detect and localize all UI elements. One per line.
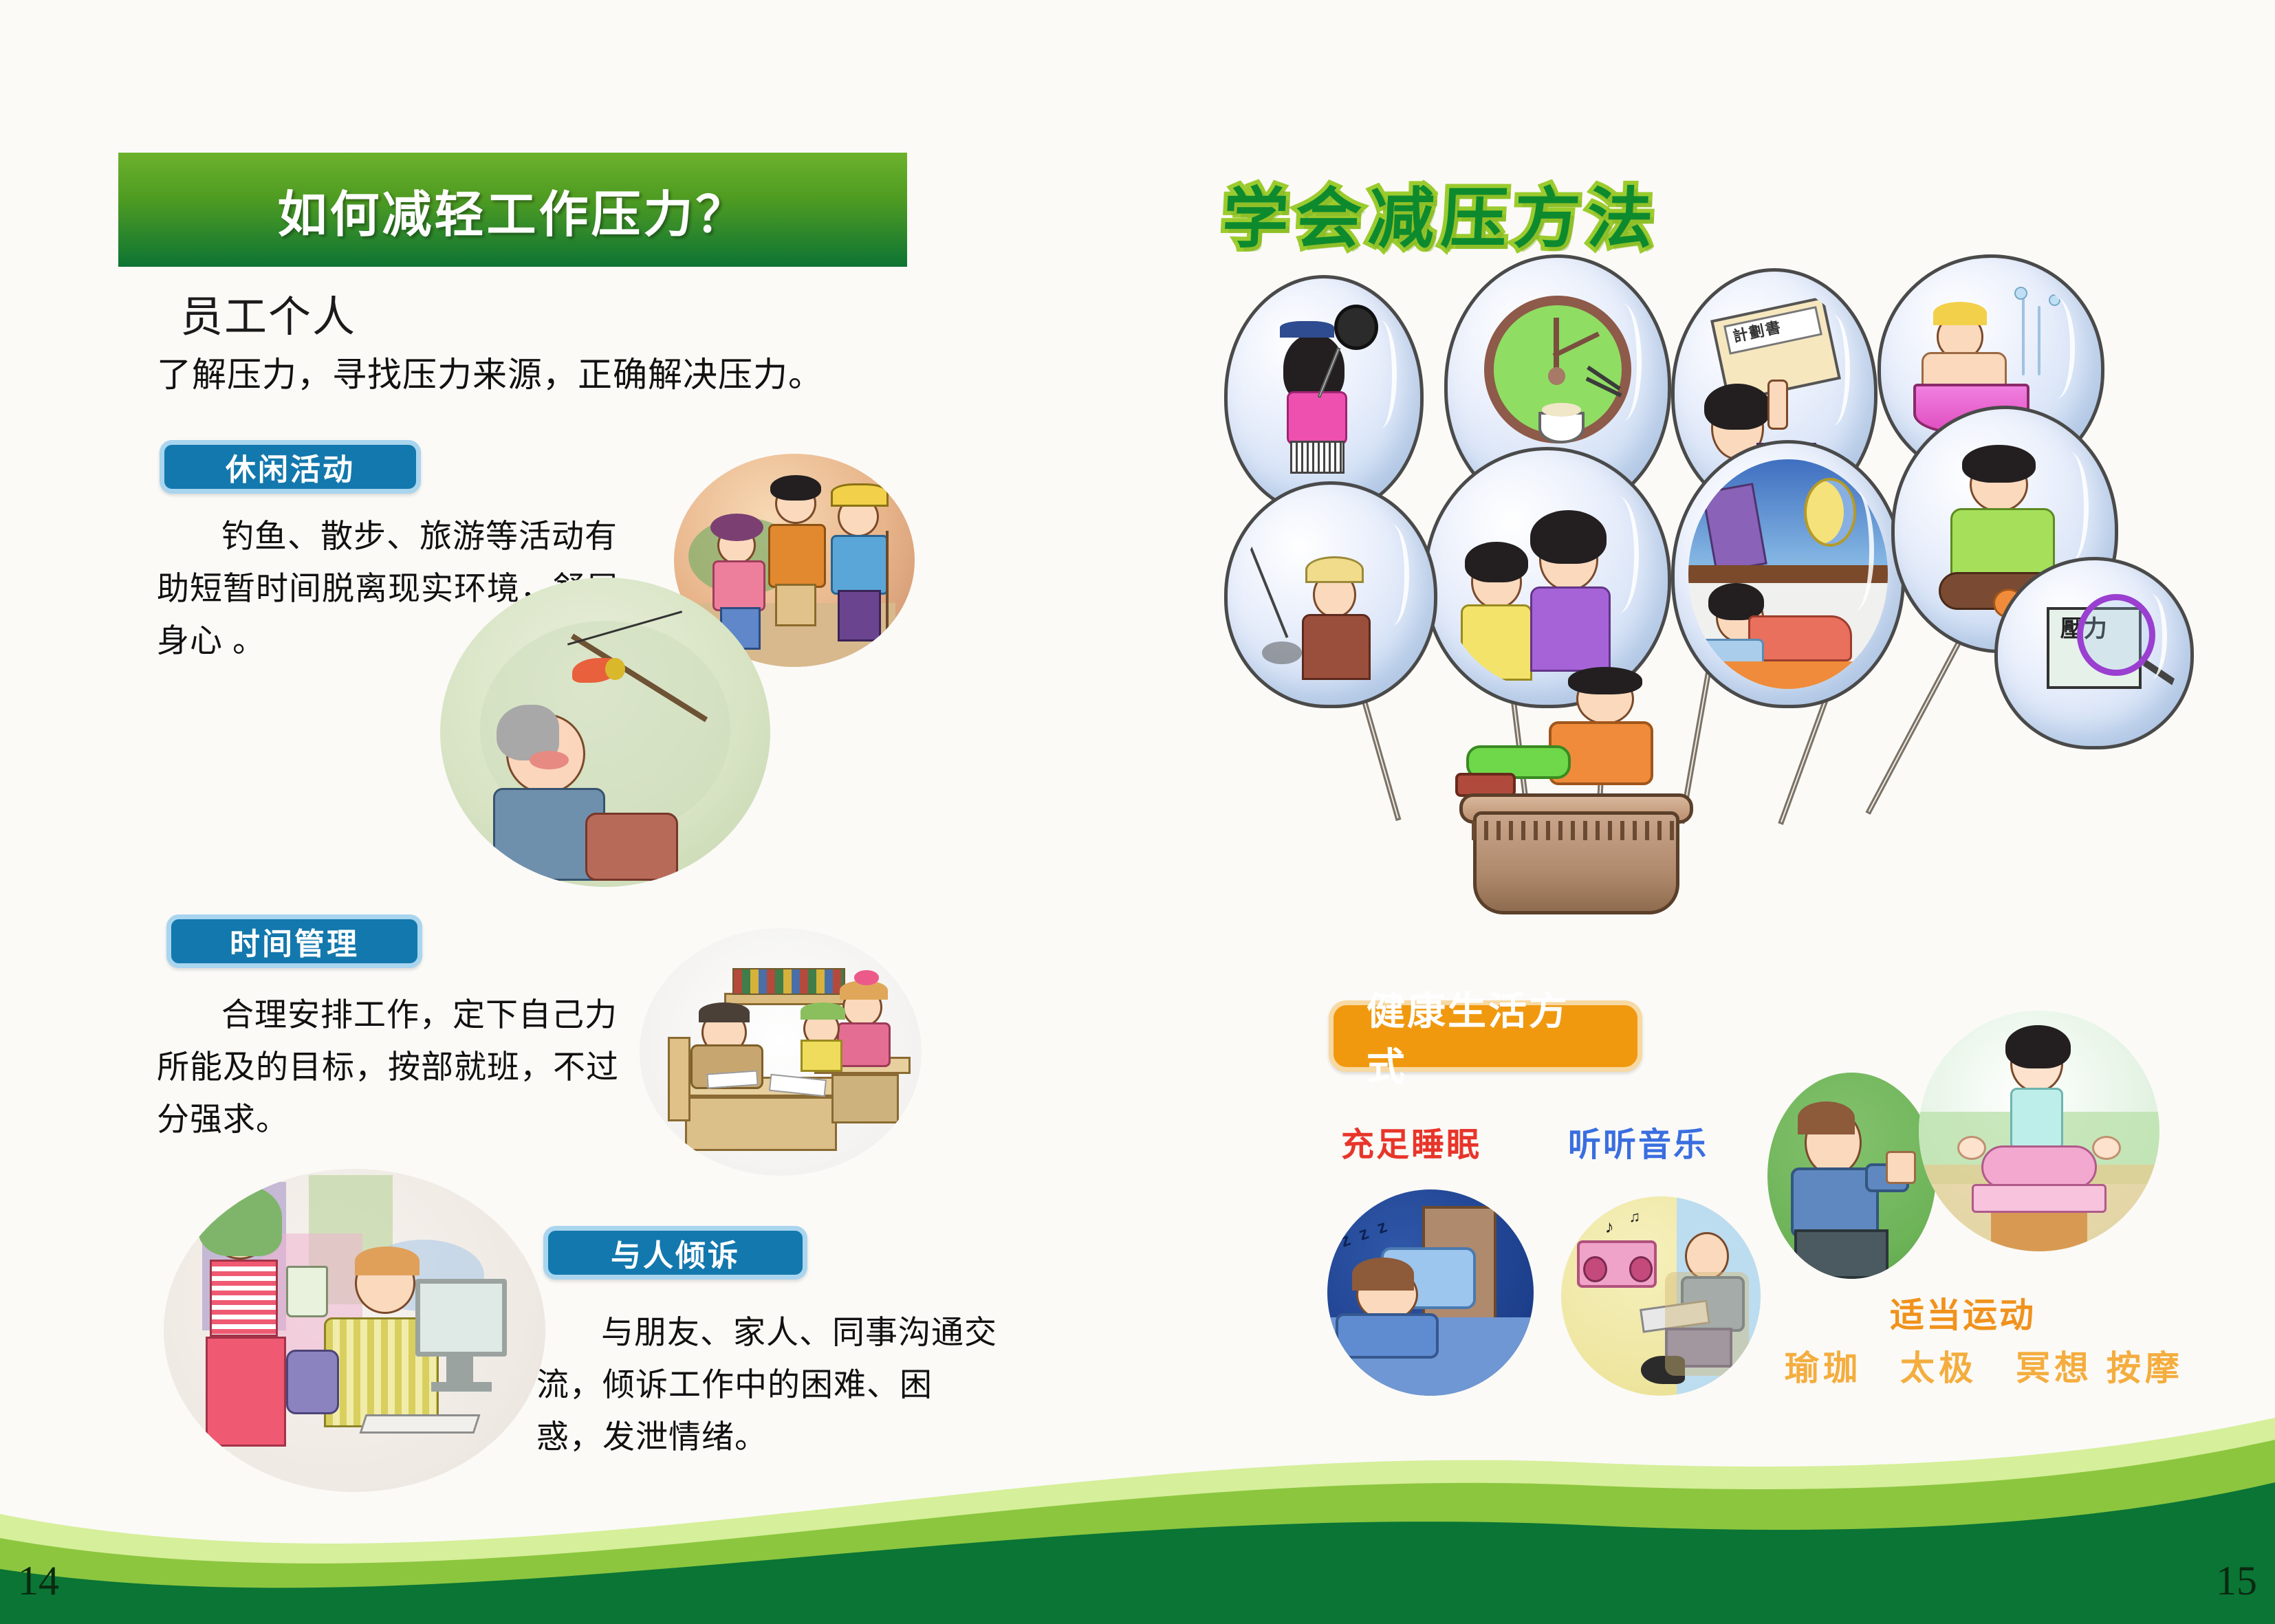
badge-time-management: 时间管理	[166, 914, 422, 968]
page-number-right: 15	[2216, 1557, 2257, 1605]
label-listen-music: 听听音乐	[1568, 1117, 1708, 1165]
office-desk-illustration	[640, 928, 922, 1176]
stress-magnifier-balloon: 壓力	[1994, 557, 2194, 749]
radio-listening-photo: ♪ ♫	[1561, 1196, 1761, 1396]
section-time-body: 合理安排工作，定下自己力所能及的目标，按部就班，不过分强求。	[157, 989, 631, 1145]
lead-paragraph: 了解压力，寻找压力来源，正确解决压力。	[157, 347, 823, 397]
yoga-meditation-photo	[1919, 1011, 2159, 1251]
brochure-spread: 如何减轻工作压力？ 员工个人 了解压力，寻找压力来源，正确解决压力。 休闲活动 …	[0, 0, 2275, 1624]
basket-fringe	[1472, 821, 1681, 840]
page-title: 如何减轻工作压力？	[277, 174, 748, 246]
fishing-man-illustration	[440, 578, 770, 887]
badge-talk-to-people: 与人倾诉	[543, 1226, 807, 1280]
label-exercise-list: 瑜珈 太极 冥想 按摩	[1785, 1341, 2184, 1390]
sleeping-person-photo: z z z	[1327, 1189, 1534, 1396]
badge-healthy-lifestyle: 健康生活方式	[1329, 1000, 1642, 1072]
right-page-title: 学会减压方法	[1220, 165, 1789, 261]
taichi-photo	[1767, 1073, 1936, 1279]
fishing-balloon	[1224, 481, 1437, 708]
footer-wave-decoration	[0, 1397, 2275, 1624]
page-number-left: 14	[18, 1557, 59, 1605]
label-appropriate-exercise: 适当运动	[1890, 1288, 2036, 1337]
badge-leisure-activities: 休闲活动	[160, 440, 421, 494]
subheading: 员工个人	[180, 282, 356, 344]
balloon-scene: 計劃書	[1217, 254, 2194, 963]
left-page-banner: 如何减轻工作压力？	[118, 153, 907, 267]
label-adequate-sleep: 充足睡眠	[1341, 1117, 1481, 1165]
badminton-balloon	[1224, 275, 1424, 516]
